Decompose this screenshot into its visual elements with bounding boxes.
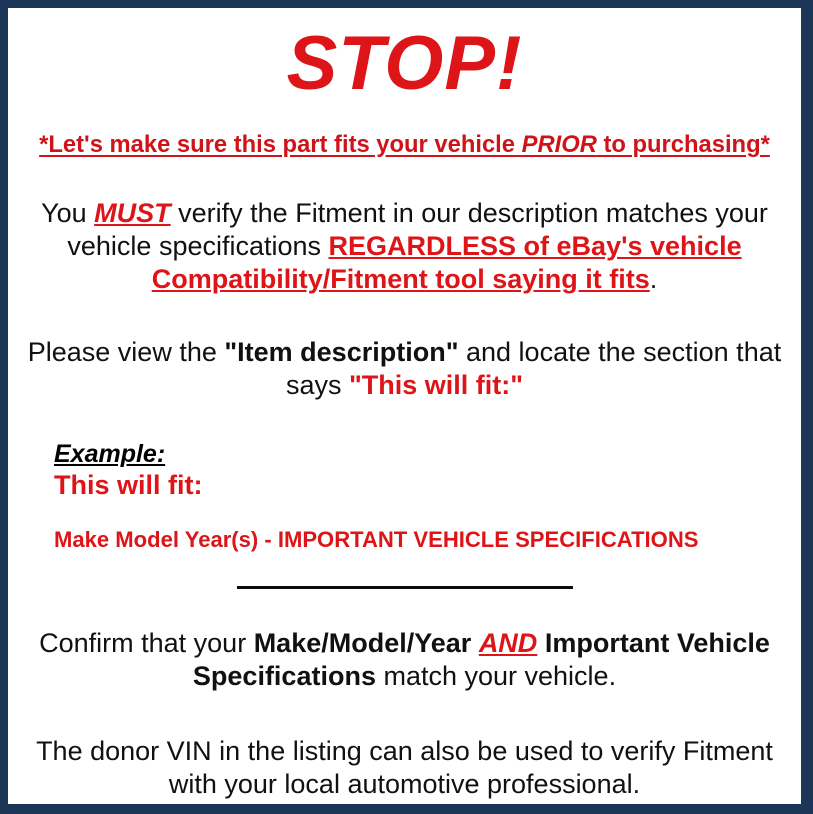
divider-row [8, 579, 801, 593]
confirm-seg-5 [537, 628, 545, 658]
notice-inner-panel: STOP! *Let's make sure this part fits yo… [8, 8, 801, 804]
example-spec-line: Make Model Year(s) - IMPORTANT VEHICLE S… [54, 527, 786, 553]
confirm-seg-3 [471, 628, 479, 658]
example-label-row: Example: [54, 440, 801, 469]
example-label: Example: [54, 440, 165, 469]
must-verify-paragraph: You MUST verify the Fitment in our descr… [8, 197, 801, 296]
must-seg-1: You [41, 198, 94, 228]
subtitle-emphasis-prior: PRIOR [522, 131, 597, 158]
example-block: Example: This will fit: Make Model Year(… [8, 440, 801, 553]
subtitle-warning: *Let's make sure this part fits your veh… [20, 132, 789, 159]
item-seg-1: Please view the [28, 337, 225, 367]
example-fit-heading: This will fit: [54, 470, 801, 501]
and-emphasis: AND [479, 628, 538, 658]
must-seg-5: . [650, 264, 658, 294]
subtitle-suffix: to purchasing* [597, 131, 770, 158]
confirm-paragraph: Confirm that your Make/Model/Year AND Im… [8, 627, 801, 693]
item-description-paragraph: Please view the "Item description" and l… [8, 336, 801, 402]
item-description-quote: "Item description" [224, 337, 458, 367]
donor-vin-paragraph: The donor VIN in the listing can also be… [8, 735, 801, 801]
must-emphasis: MUST [94, 198, 171, 228]
subtitle-prefix: *Let's make sure this part fits your veh… [39, 131, 521, 158]
confirm-seg-7: match your vehicle. [376, 661, 616, 691]
this-will-fit-quote: "This will fit:" [349, 370, 523, 400]
fitment-notice-banner: STOP! *Let's make sure this part fits yo… [0, 0, 813, 814]
confirm-seg-1: Confirm that your [39, 628, 254, 658]
horizontal-rule [237, 586, 573, 589]
make-model-year-emphasis: Make/Model/Year [254, 628, 472, 658]
page-title: STOP! [8, 26, 801, 102]
